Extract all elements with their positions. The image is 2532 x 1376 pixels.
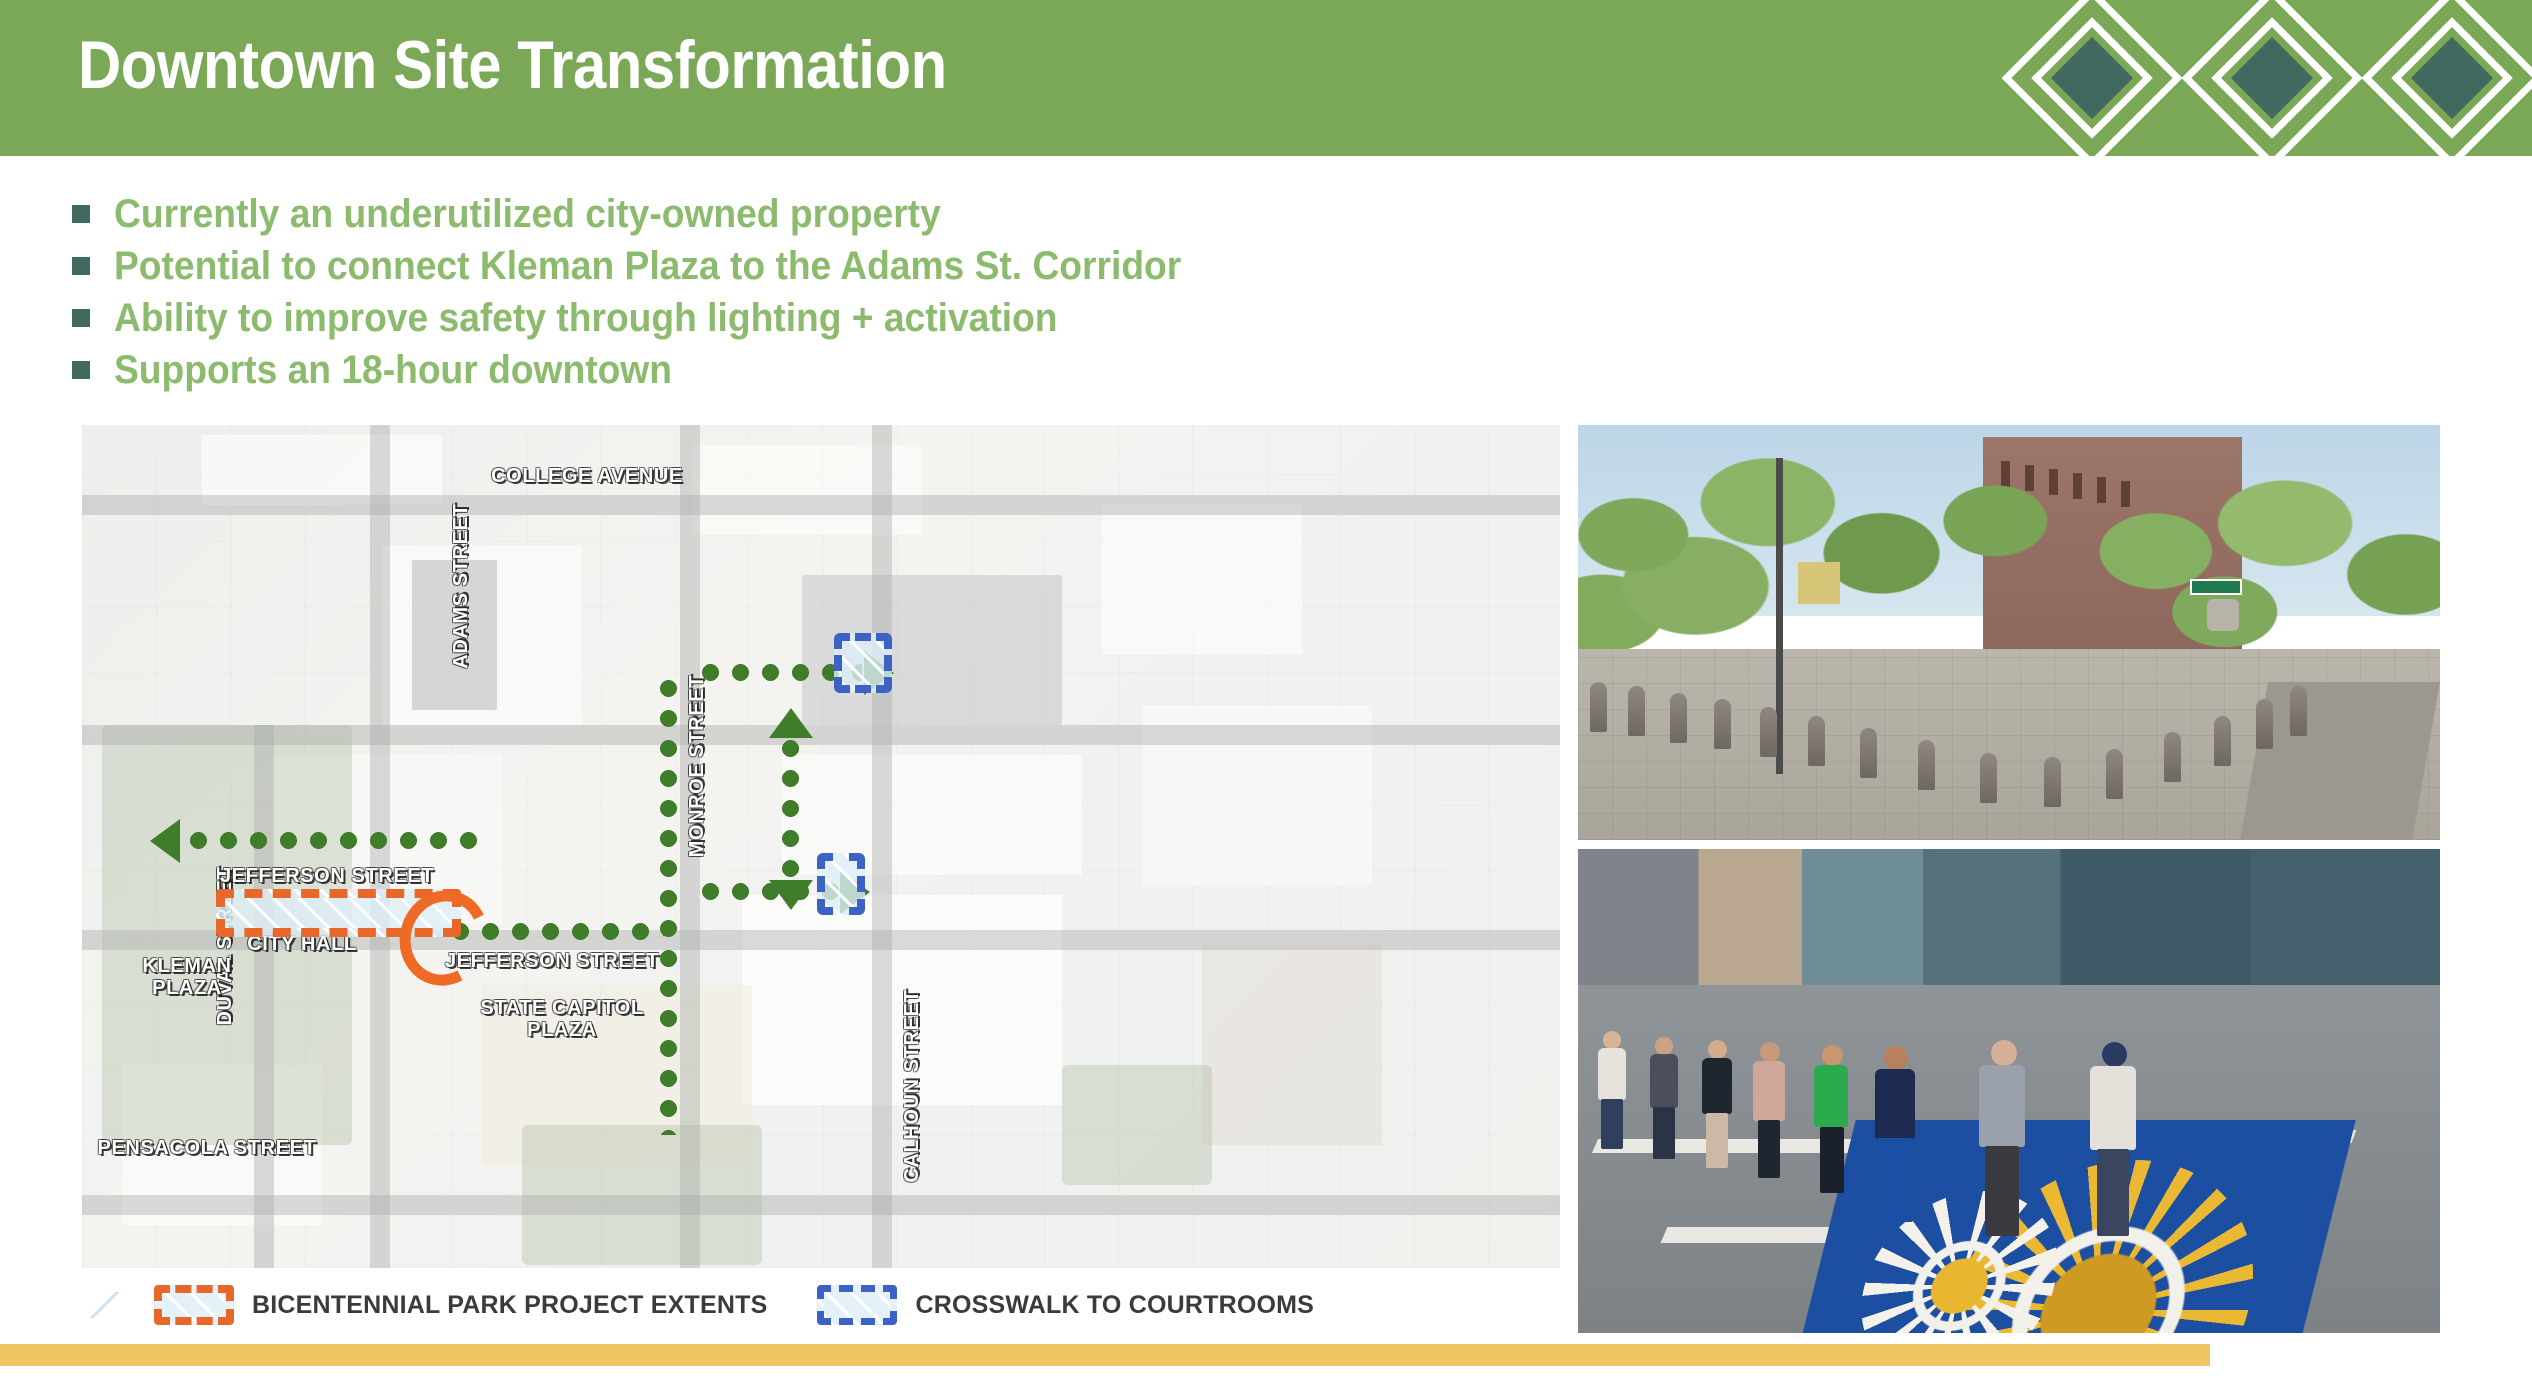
slide-header: Downtown Site Transformation (0, 0, 2532, 156)
map-label-jefferson-street-west: JEFFERSON STREET (187, 865, 467, 887)
pedestrian-path-jefferson-west (190, 832, 478, 849)
bollard (2214, 716, 2231, 766)
bollard (2164, 732, 2181, 782)
background-buildings (1578, 849, 2440, 994)
bullet-text: Ability to improve safety through lighti… (114, 296, 1058, 341)
pedestrian (1595, 1031, 1629, 1149)
pedestrian (1975, 1040, 2029, 1236)
map-label-adams-street: ADAMS STREET (450, 471, 472, 701)
pedestrian (2087, 1042, 2139, 1236)
page-title: Downtown Site Transformation (78, 26, 947, 104)
pedestrian-path-monroe (660, 680, 677, 1135)
list-item: Ability to improve safety through lighti… (72, 292, 1772, 344)
bollard (2290, 686, 2307, 736)
map-label-college-avenue: COLLEGE AVENUE (462, 465, 712, 487)
bollard (1628, 686, 1645, 736)
wayfinding-sign-icon (1798, 562, 1840, 604)
pedestrian (1811, 1045, 1851, 1193)
aerial-site-map[interactable]: COLLEGE AVENUE ADAMS STREET MONROE STREE… (82, 425, 1560, 1268)
list-item: Potential to connect Kleman Plaza to the… (72, 240, 1772, 292)
map-legend: BICENTENNIAL PARK PROJECT EXTENTS CROSSW… (82, 1283, 1314, 1327)
map-label-kleman-plaza: KLEMAN PLAZA (82, 955, 302, 1000)
bullet-square-icon (72, 309, 90, 327)
bollard (1918, 740, 1935, 790)
bollard (1590, 682, 1607, 732)
pedestrian (1647, 1037, 1681, 1159)
bullet-square-icon (72, 257, 90, 275)
list-item: Supports an 18-hour downtown (72, 344, 1772, 396)
light-pole (1776, 458, 1783, 773)
bullet-text: Supports an 18-hour downtown (114, 348, 672, 393)
diamond-decoration (2002, 0, 2532, 156)
crosswalk-to-courtrooms-north[interactable] (834, 633, 892, 693)
pedestrian (1699, 1040, 1735, 1168)
map-label-state-capitol-plaza: STATE CAPITOL PLAZA (437, 997, 687, 1042)
arrow-left-icon (150, 819, 180, 863)
stop-sign-icon (2207, 599, 2239, 631)
bullet-square-icon (72, 361, 90, 379)
bullet-text: Currently an underutilized city-owned pr… (114, 192, 941, 237)
bollard (1860, 728, 1877, 778)
legend-label: CROSSWALK TO COURTROOMS (915, 1291, 1314, 1320)
photo-street-corner-plaza[interactable] (1578, 425, 2440, 840)
crosswalk-to-courtrooms-south[interactable] (817, 853, 865, 915)
list-item: Currently an underutilized city-owned pr… (72, 188, 1772, 240)
bollard (2256, 699, 2273, 749)
map-label-pensacola-street: PENSACOLA STREET (82, 1137, 357, 1159)
bollard (1670, 693, 1687, 743)
bollard (1760, 707, 1777, 757)
street-name-sign-icon (2190, 579, 2242, 595)
bollard (1714, 699, 1731, 749)
slide-canvas: Downtown Site Transformation Currently a… (0, 0, 2532, 1376)
pedestrian-path-calhoun (782, 740, 799, 880)
legend-item-project-extents[interactable]: BICENTENNIAL PARK PROJECT EXTENTS (154, 1285, 767, 1325)
legend-item-crosswalk[interactable]: CROSSWALK TO COURTROOMS (817, 1285, 1314, 1325)
arrow-up-icon (769, 708, 813, 738)
bollard (2044, 757, 2061, 807)
legend-tick-icon (82, 1292, 128, 1318)
bullet-square-icon (72, 205, 90, 223)
bollard (2106, 749, 2123, 799)
pedestrian (1871, 1046, 1919, 1222)
bullet-list: Currently an underutilized city-owned pr… (72, 188, 1772, 396)
photo-group-walking-crosswalk[interactable] (1578, 849, 2440, 1333)
bollard (1980, 753, 1997, 803)
footer-accent-bar (0, 1344, 2210, 1366)
bollard (1808, 716, 1825, 766)
map-label-calhoun-street: CALHOUN STREET (901, 956, 923, 1216)
legend-label: BICENTENNIAL PARK PROJECT EXTENTS (252, 1291, 767, 1320)
legend-swatch-orange-dashed-icon (154, 1285, 234, 1325)
pedestrian (1750, 1042, 1788, 1178)
tree-canopy-left (1578, 442, 2078, 674)
bullet-text: Potential to connect Kleman Plaza to the… (114, 244, 1181, 289)
legend-swatch-blue-dashed-icon (817, 1285, 897, 1325)
